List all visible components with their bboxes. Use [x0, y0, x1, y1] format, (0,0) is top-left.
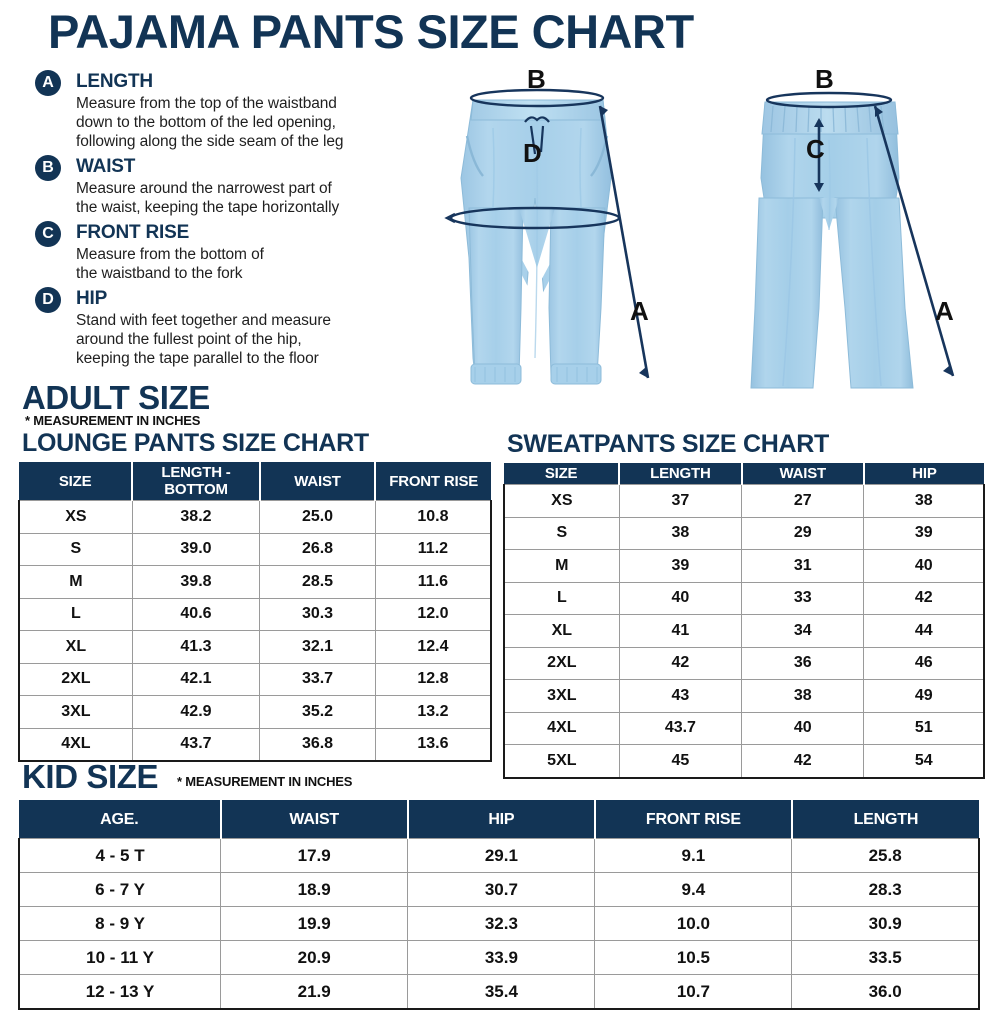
table-cell: 54	[864, 745, 984, 778]
table-cell: 21.9	[221, 975, 408, 1010]
table-cell: 39	[864, 517, 984, 550]
kid-table-body: 4 - 5 T17.929.19.125.86 - 7 Y18.930.79.4…	[19, 839, 979, 1010]
straight-label-c: C	[806, 136, 825, 162]
jogger-label-d: D	[523, 140, 542, 166]
jogger-label-b: B	[527, 66, 546, 92]
legend-badge-b: B	[35, 155, 61, 181]
table-cell: 39.8	[132, 566, 259, 599]
table-cell: 11.6	[375, 566, 491, 599]
legend-description: Measure around the narrowest part of the…	[76, 179, 428, 217]
table-cell: 33.7	[260, 663, 376, 696]
jogger-pants-illustration: B D A	[415, 58, 705, 398]
table-cell: 33.9	[408, 941, 595, 975]
column-header: AGE.	[19, 800, 221, 839]
table-cell: 38	[864, 485, 984, 518]
table-cell: 38.2	[132, 501, 259, 534]
table-row: 3XL433849	[504, 680, 984, 713]
table-cell: 9.4	[595, 873, 792, 907]
table-cell: 20.9	[221, 941, 408, 975]
table-cell: 19.9	[221, 907, 408, 941]
straight-leg-pants-illustration: B C A	[707, 58, 997, 398]
column-header: LENGTH -BOTTOM	[132, 462, 259, 501]
row-label-cell: 4XL	[504, 712, 619, 745]
row-label-cell: 12 - 13 Y	[19, 975, 221, 1010]
column-header: HIP	[408, 800, 595, 839]
table-row: XL41.332.112.4	[19, 631, 491, 664]
legend-badge-c: C	[35, 221, 61, 247]
table-cell: 44	[864, 615, 984, 648]
lounge-pants-size-table: SIZELENGTH -BOTTOMWAISTFRONT RISE XS38.2…	[18, 462, 492, 762]
table-cell: 35.4	[408, 975, 595, 1010]
table-cell: 42	[619, 647, 741, 680]
table-row: 4 - 5 T17.929.19.125.8	[19, 839, 979, 873]
adult-size-heading: ADULT SIZE	[22, 381, 210, 414]
adult-measurement-note: * MEASUREMENT IN INCHES	[25, 414, 200, 427]
table-cell: 28.5	[260, 566, 376, 599]
sweat-table-body: XS372738S382939M393140L403342XL4134442XL…	[504, 485, 984, 778]
legend-badge-d: D	[35, 287, 61, 313]
row-label-cell: M	[19, 566, 132, 599]
legend-item-hip: DHIPStand with feet together and measure…	[28, 287, 428, 368]
table-cell: 12.8	[375, 663, 491, 696]
table-cell: 41.3	[132, 631, 259, 664]
column-header: WAIST	[260, 462, 376, 501]
table-cell: 11.2	[375, 533, 491, 566]
table-row: 10 - 11 Y20.933.910.533.5	[19, 941, 979, 975]
table-row: XL413444	[504, 615, 984, 648]
table-cell: 36.8	[260, 728, 376, 761]
table-cell: 38	[742, 680, 864, 713]
table-cell: 26.8	[260, 533, 376, 566]
table-cell: 25.0	[260, 501, 376, 534]
table-row: M39.828.511.6	[19, 566, 491, 599]
column-header: WAIST	[742, 463, 864, 485]
table-cell: 27	[742, 485, 864, 518]
column-header: SIZE	[19, 462, 132, 501]
row-label-cell: 10 - 11 Y	[19, 941, 221, 975]
table-cell: 37	[619, 485, 741, 518]
row-label-cell: 2XL	[504, 647, 619, 680]
legend-title: WAIST	[76, 155, 428, 179]
table-cell: 42.1	[132, 663, 259, 696]
table-row: M393140	[504, 550, 984, 583]
table-cell: 41	[619, 615, 741, 648]
table-cell: 18.9	[221, 873, 408, 907]
table-cell: 34	[742, 615, 864, 648]
table-row: XS372738	[504, 485, 984, 518]
table-cell: 10.7	[595, 975, 792, 1010]
row-label-cell: XS	[504, 485, 619, 518]
row-label-cell: XL	[504, 615, 619, 648]
legend-item-front-rise: CFRONT RISEMeasure from the bottom of th…	[28, 221, 428, 283]
row-label-cell: XS	[19, 501, 132, 534]
table-row: 3XL42.935.213.2	[19, 696, 491, 729]
legend-title: LENGTH	[76, 70, 428, 94]
legend-item-length: ALENGTHMeasure from the top of the waist…	[28, 70, 428, 151]
straight-label-a: A	[935, 298, 954, 324]
lounge-table-body: XS38.225.010.8S39.026.811.2M39.828.511.6…	[19, 501, 491, 762]
straight-pants-svg	[707, 58, 997, 398]
page-title: PAJAMA PANTS SIZE CHART	[48, 8, 694, 55]
table-cell: 38	[619, 517, 741, 550]
row-label-cell: 3XL	[504, 680, 619, 713]
table-row: 4XL43.736.813.6	[19, 728, 491, 761]
column-header: FRONT RISE	[375, 462, 491, 501]
table-cell: 33.5	[792, 941, 979, 975]
table-cell: 17.9	[221, 839, 408, 873]
table-cell: 29	[742, 517, 864, 550]
table-row: L40.630.312.0	[19, 598, 491, 631]
legend-description: Measure from the top of the waistband do…	[76, 94, 428, 151]
table-cell: 42	[742, 745, 864, 778]
table-cell: 39	[619, 550, 741, 583]
pants-illustrations: B D A	[415, 58, 1000, 398]
column-header: HIP	[864, 463, 984, 485]
straight-label-b: B	[815, 66, 834, 92]
table-cell: 12.4	[375, 631, 491, 664]
row-label-cell: 2XL	[19, 663, 132, 696]
row-label-cell: 5XL	[504, 745, 619, 778]
table-cell: 43	[619, 680, 741, 713]
legend-description: Measure from the bottom of the waistband…	[76, 245, 428, 283]
row-label-cell: 4XL	[19, 728, 132, 761]
table-cell: 42	[864, 582, 984, 615]
legend-badge-a: A	[35, 70, 61, 96]
table-cell: 30.3	[260, 598, 376, 631]
table-cell: 42.9	[132, 696, 259, 729]
table-cell: 13.6	[375, 728, 491, 761]
measurement-legend: ALENGTHMeasure from the top of the waist…	[28, 70, 428, 372]
table-cell: 32.3	[408, 907, 595, 941]
row-label-cell: 6 - 7 Y	[19, 873, 221, 907]
legend-title: FRONT RISE	[76, 221, 428, 245]
table-cell: 28.3	[792, 873, 979, 907]
table-cell: 51	[864, 712, 984, 745]
sweatpants-size-table: SIZELENGTHWAISTHIP XS372738S382939M39314…	[503, 463, 985, 779]
table-row: XS38.225.010.8	[19, 501, 491, 534]
lounge-table-head: SIZELENGTH -BOTTOMWAISTFRONT RISE	[19, 462, 491, 501]
table-cell: 10.0	[595, 907, 792, 941]
row-label-cell: L	[19, 598, 132, 631]
column-header: SIZE	[504, 463, 619, 485]
row-label-cell: 3XL	[19, 696, 132, 729]
column-header: LENGTH	[619, 463, 741, 485]
column-header: WAIST	[221, 800, 408, 839]
table-row: 5XL454254	[504, 745, 984, 778]
row-label-cell: M	[504, 550, 619, 583]
table-cell: 29.1	[408, 839, 595, 873]
table-cell: 43.7	[132, 728, 259, 761]
legend-title: HIP	[76, 287, 428, 311]
row-label-cell: XL	[19, 631, 132, 664]
jogger-label-a: A	[630, 298, 649, 324]
table-cell: 13.2	[375, 696, 491, 729]
table-row: 12 - 13 Y21.935.410.736.0	[19, 975, 979, 1010]
table-cell: 36.0	[792, 975, 979, 1010]
table-cell: 46	[864, 647, 984, 680]
lounge-table-heading: LOUNGE PANTS SIZE CHART	[22, 431, 369, 456]
table-cell: 10.5	[595, 941, 792, 975]
legend-item-waist: BWAISTMeasure around the narrowest part …	[28, 155, 428, 217]
table-cell: 10.8	[375, 501, 491, 534]
table-cell: 40	[864, 550, 984, 583]
table-cell: 40	[619, 582, 741, 615]
table-cell: 31	[742, 550, 864, 583]
column-header: FRONT RISE	[595, 800, 792, 839]
sweatpants-table-heading: SWEATPANTS SIZE CHART	[507, 432, 829, 457]
table-row: 2XL423646	[504, 647, 984, 680]
column-header: LENGTH	[792, 800, 979, 839]
table-cell: 12.0	[375, 598, 491, 631]
table-cell: 32.1	[260, 631, 376, 664]
table-row: 8 - 9 Y19.932.310.030.9	[19, 907, 979, 941]
table-row: 2XL42.133.712.8	[19, 663, 491, 696]
table-row: 6 - 7 Y18.930.79.428.3	[19, 873, 979, 907]
table-cell: 33	[742, 582, 864, 615]
table-row: S382939	[504, 517, 984, 550]
row-label-cell: S	[19, 533, 132, 566]
kid-size-table: AGE.WAISTHIPFRONT RISELENGTH 4 - 5 T17.9…	[18, 800, 980, 1010]
row-label-cell: 8 - 9 Y	[19, 907, 221, 941]
jogger-pants-svg	[415, 58, 705, 398]
table-cell: 36	[742, 647, 864, 680]
kid-table-head: AGE.WAISTHIPFRONT RISELENGTH	[19, 800, 979, 839]
table-cell: 40	[742, 712, 864, 745]
table-cell: 45	[619, 745, 741, 778]
row-label-cell: S	[504, 517, 619, 550]
table-row: 4XL43.74051	[504, 712, 984, 745]
kid-measurement-note: * MEASUREMENT IN INCHES	[177, 775, 352, 788]
table-row: S39.026.811.2	[19, 533, 491, 566]
table-cell: 43.7	[619, 712, 741, 745]
table-header-row: SIZELENGTH -BOTTOMWAISTFRONT RISE	[19, 462, 491, 501]
row-label-cell: L	[504, 582, 619, 615]
row-label-cell: 4 - 5 T	[19, 839, 221, 873]
table-header-row: AGE.WAISTHIPFRONT RISELENGTH	[19, 800, 979, 839]
table-cell: 30.9	[792, 907, 979, 941]
sweat-table-head: SIZELENGTHWAISTHIP	[504, 463, 984, 485]
table-cell: 39.0	[132, 533, 259, 566]
table-cell: 35.2	[260, 696, 376, 729]
legend-description: Stand with feet together and measure aro…	[76, 311, 428, 368]
table-cell: 30.7	[408, 873, 595, 907]
table-cell: 49	[864, 680, 984, 713]
kid-size-heading: KID SIZE	[22, 760, 158, 793]
table-cell: 9.1	[595, 839, 792, 873]
table-cell: 25.8	[792, 839, 979, 873]
table-cell: 40.6	[132, 598, 259, 631]
table-header-row: SIZELENGTHWAISTHIP	[504, 463, 984, 485]
table-row: L403342	[504, 582, 984, 615]
